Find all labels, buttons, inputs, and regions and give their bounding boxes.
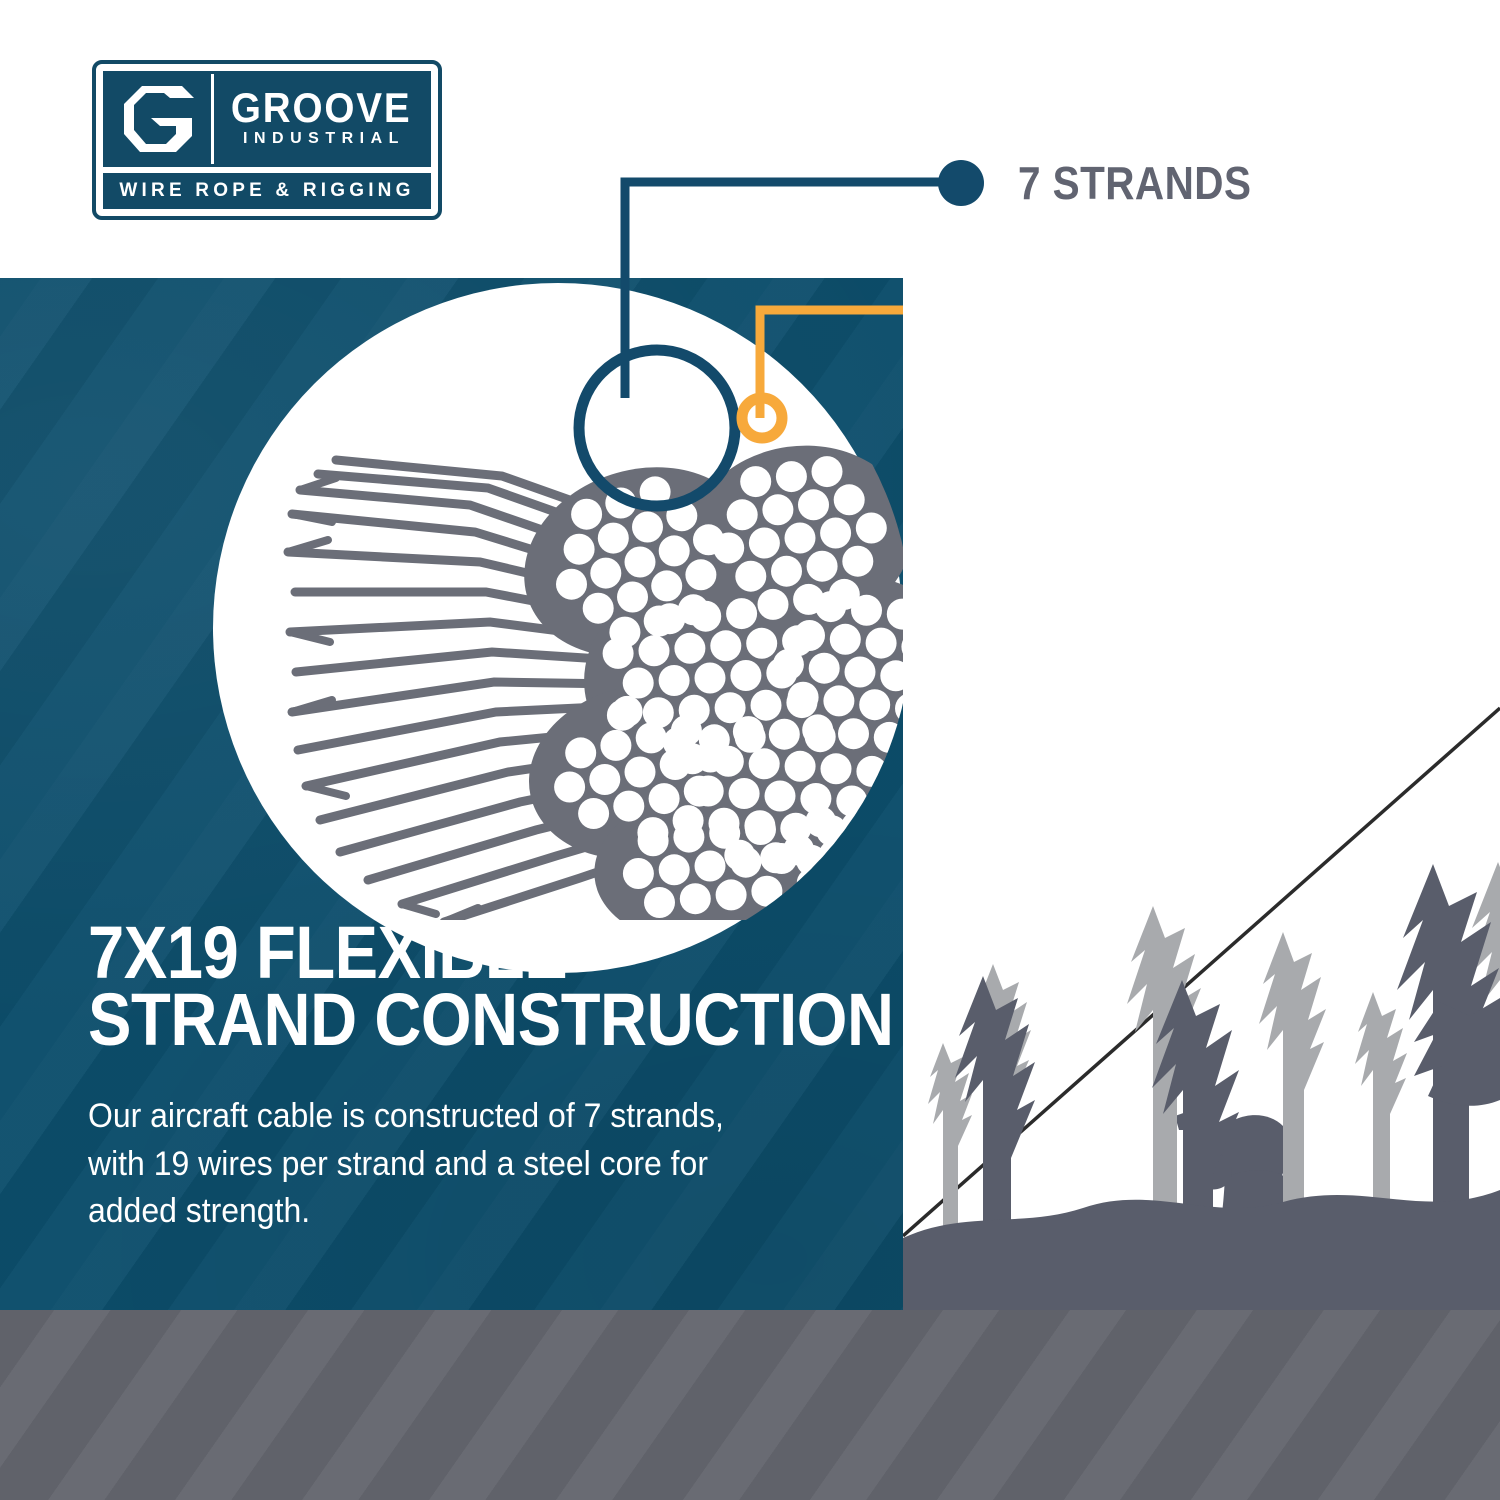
headline-line-1: 7X19 FLEXIBLE [88, 920, 792, 987]
logo-name-secondary: INDUSTRIAL [237, 130, 405, 148]
body-copy: Our aircraft cable is constructed of 7 s… [88, 1093, 755, 1236]
logo-border: GROOVE INDUSTRIAL WIRE ROPE & RIGGING [92, 60, 442, 220]
zipline-photo [903, 278, 1500, 1310]
navy-dot-icon [938, 160, 984, 206]
logo-name-primary: GROOVE [231, 88, 412, 128]
callout-label-strands: 7 STRANDS [1018, 156, 1251, 210]
headline-line-2: STRAND CONSTRUCTION [88, 987, 792, 1054]
infographic-canvas: 7 STRANDS 19 WIRES PER STRAND HOT DIP GA… [0, 0, 1500, 1500]
logo-wordmark: GROOVE INDUSTRIAL [214, 74, 428, 164]
logo-top-row: GROOVE INDUSTRIAL [103, 71, 431, 167]
logo-tagline-bar: WIRE ROPE & RIGGING [103, 173, 431, 209]
footer-band [0, 1310, 1500, 1500]
callout-strands[interactable]: 7 STRANDS [938, 156, 1283, 210]
headline-block: 7X19 FLEXIBLE STRAND CONSTRUCTION Our ai… [88, 920, 888, 1236]
zipline-scene [903, 278, 1500, 1310]
groove-g-monogram-icon [106, 74, 214, 164]
logo-inner: GROOVE INDUSTRIAL WIRE ROPE & RIGGING [103, 71, 431, 209]
footer-band-texture [0, 1310, 1500, 1500]
logo-tagline: WIRE ROPE & RIGGING [119, 180, 414, 202]
brand-logo[interactable]: GROOVE INDUSTRIAL WIRE ROPE & RIGGING [92, 60, 442, 220]
